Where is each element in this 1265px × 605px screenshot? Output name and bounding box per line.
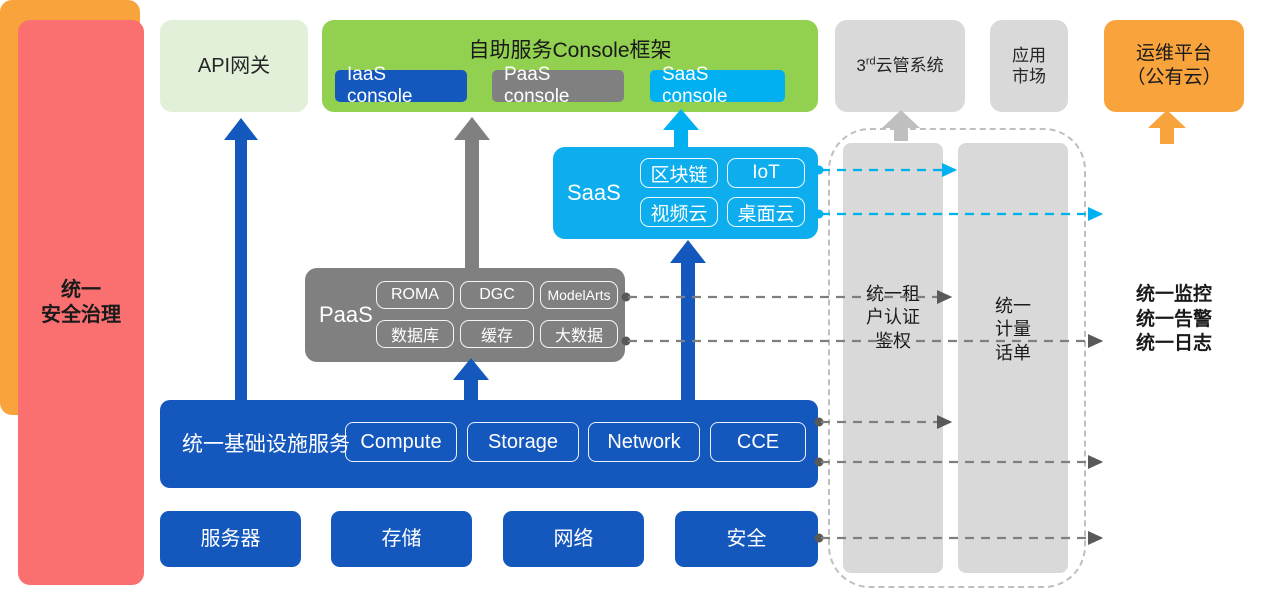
arrow-iaas-to-saas: [670, 240, 706, 401]
app-market-line2: 市场: [1012, 66, 1046, 87]
ops-platform-line2: （公有云）: [1126, 66, 1221, 90]
unified-infrastructure-block: 统一基础设施服务 Compute Storage Network CCE: [160, 400, 818, 488]
hardware-box-storage[interactable]: 存储: [331, 511, 472, 567]
ops-col-line3: 统一日志: [1104, 332, 1244, 357]
billing-line3: 话单: [958, 342, 1068, 365]
auth-column-block: [843, 143, 943, 573]
api-gateway-label: API网关: [198, 54, 270, 79]
ops-monitoring-text: 统一监控 统一告警 统一日志: [1104, 283, 1244, 357]
third-party-superscript: rd: [866, 56, 876, 68]
hardware-box-security[interactable]: 安全: [675, 511, 818, 567]
saas-tag-iot[interactable]: IoT: [727, 158, 805, 188]
app-market-line1: 应用: [1012, 45, 1046, 66]
third-party-cloud-mgmt-label: 3rd云管系统: [856, 55, 943, 76]
paas-tag-database[interactable]: 数据库: [376, 320, 454, 348]
saas-block: SaaS 区块链 IoT 视频云 桌面云: [553, 147, 818, 239]
arrow-to-ops-platform: [1148, 110, 1186, 144]
paas-console-chip[interactable]: PaaS console: [492, 70, 624, 102]
ops-col-line2: 统一告警: [1104, 308, 1244, 333]
iaas-tag-network[interactable]: Network: [588, 422, 700, 462]
billing-line1: 统一: [958, 295, 1068, 318]
saas-tag-desktop-cloud[interactable]: 桌面云: [727, 197, 805, 227]
saas-tag-blockchain[interactable]: 区块链: [640, 158, 718, 188]
ops-platform-line1: 运维平台: [1126, 42, 1221, 66]
paas-tag-modelarts[interactable]: ModelArts: [540, 281, 618, 309]
paas-tag-bigdata[interactable]: 大数据: [540, 320, 618, 348]
ops-col-line1: 统一监控: [1104, 283, 1244, 308]
unified-infrastructure-label: 统一基础设施服务: [182, 428, 350, 458]
iaas-tag-storage[interactable]: Storage: [467, 422, 579, 462]
iaas-tag-cce[interactable]: CCE: [710, 422, 806, 462]
ops-platform-top-box: 运维平台 （公有云）: [1104, 20, 1244, 112]
console-framework-panel: 自助服务Console框架 IaaS console PaaS console …: [322, 20, 818, 112]
billing-line2: 计量: [958, 318, 1068, 341]
third-party-cloud-mgmt-box: 3rd云管系统: [835, 20, 965, 112]
security-governance-column: 统一 安全治理: [18, 20, 144, 585]
saas-label: SaaS: [567, 180, 621, 206]
auth-column-text: 统一租 户认证 鉴权: [843, 283, 943, 353]
paas-label: PaaS: [319, 302, 373, 328]
paas-tag-dgc[interactable]: DGC: [460, 281, 534, 309]
third-party-prefix: 3: [856, 56, 865, 75]
arrow-iaas-to-paas: [453, 358, 489, 401]
third-party-rest: 云管系统: [876, 56, 944, 75]
hardware-box-server[interactable]: 服务器: [160, 511, 301, 567]
security-governance-line1: 统一: [41, 278, 121, 303]
auth-line3: 鉴权: [843, 330, 943, 353]
saas-console-chip[interactable]: SaaS console: [650, 70, 785, 102]
console-framework-title: 自助服务Console框架: [322, 34, 818, 64]
auth-line2: 户认证: [843, 306, 943, 329]
app-market-box: 应用 市场: [990, 20, 1068, 112]
hardware-box-network[interactable]: 网络: [503, 511, 644, 567]
iaas-console-chip[interactable]: IaaS console: [335, 70, 467, 102]
auth-line1: 统一租: [843, 283, 943, 306]
arrow-saas-to-saas-console: [663, 109, 699, 150]
arrow-paas-to-console: [454, 117, 490, 268]
saas-tag-video-cloud[interactable]: 视频云: [640, 197, 718, 227]
billing-column-text: 统一 计量 话单: [958, 295, 1068, 365]
arrow-iaas-to-api-gateway: [224, 118, 258, 400]
api-gateway-box: API网关: [160, 20, 308, 112]
paas-block: PaaS ROMA DGC ModelArts 数据库 缓存 大数据: [305, 268, 625, 362]
architecture-diagram: 统一 安全治理 API网关 自助服务Console框架 IaaS console…: [0, 0, 1265, 605]
paas-tag-cache[interactable]: 缓存: [460, 320, 534, 348]
paas-tag-roma[interactable]: ROMA: [376, 281, 454, 309]
security-governance-line2: 安全治理: [41, 303, 121, 328]
iaas-tag-compute[interactable]: Compute: [345, 422, 457, 462]
